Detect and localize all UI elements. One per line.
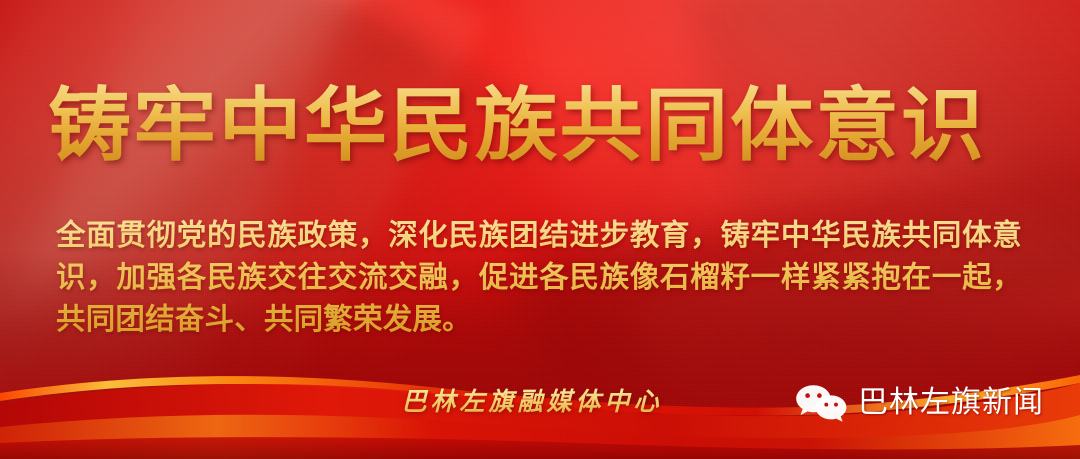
wechat-icon	[795, 383, 847, 423]
page-title: 铸牢中华民族共同体意识	[48, 74, 1071, 178]
body-paragraph: 全面贯彻党的民族政策，深化民族团结进步教育，铸牢中华民族共同体意识，加强各民族交…	[56, 214, 1022, 340]
wechat-badge[interactable]: 巴林左旗新闻	[795, 383, 1044, 423]
poster-banner: 铸牢中华民族共同体意识 全面贯彻党的民族政策，深化民族团结进步教育，铸牢中华民族…	[0, 0, 1080, 459]
wechat-account-name: 巴林左旗新闻	[858, 386, 1044, 420]
